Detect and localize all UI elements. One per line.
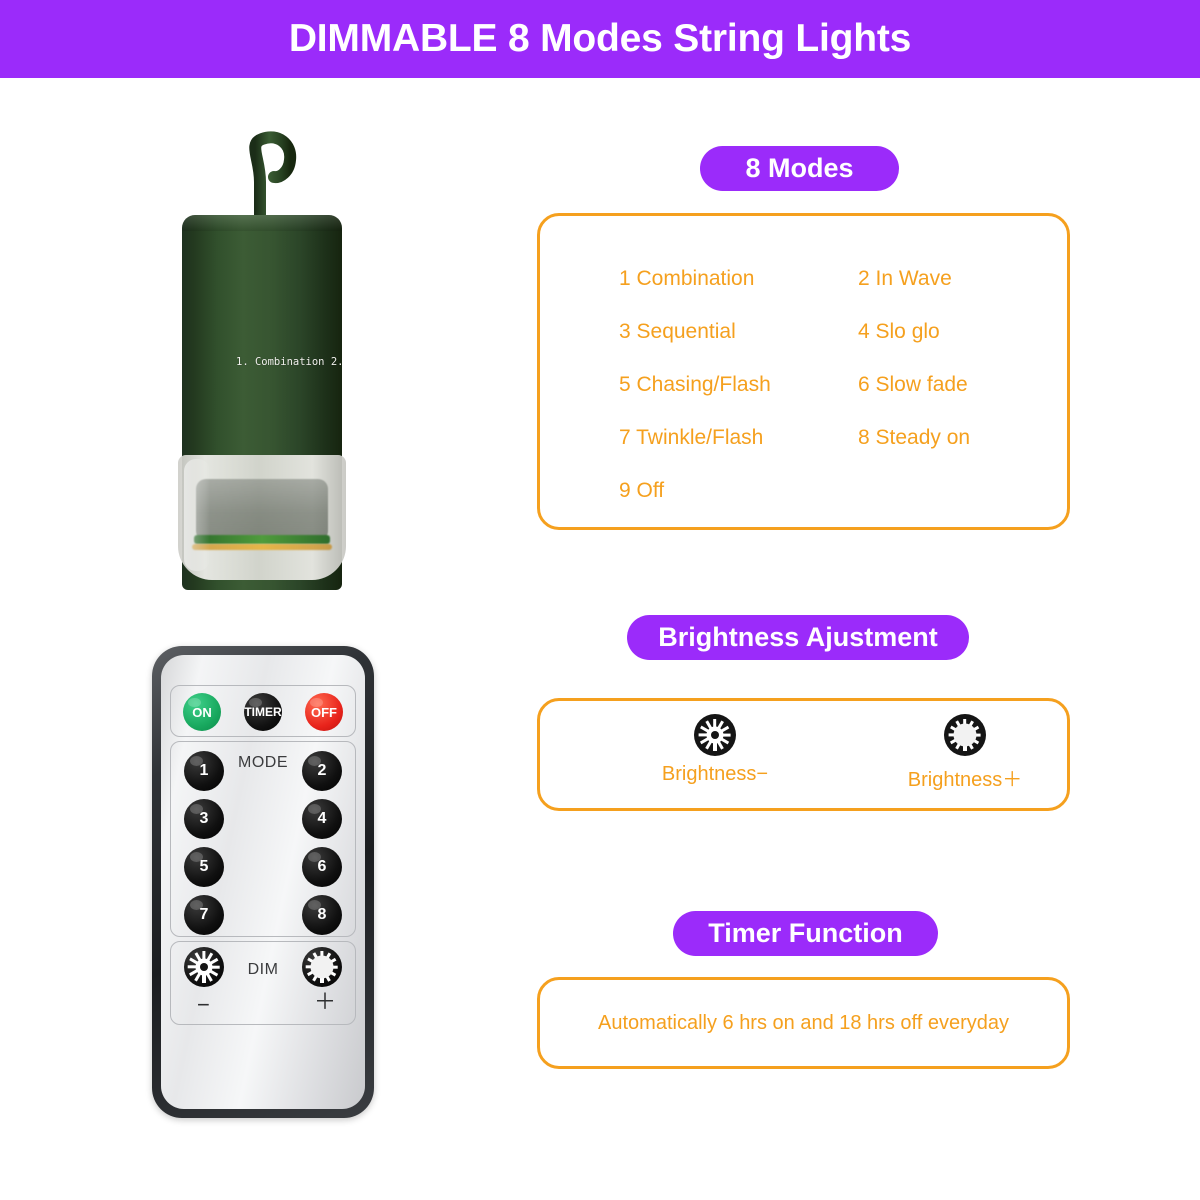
modes-panel: 1 Combination 2 In Wave 3 Sequential 4 S… — [537, 213, 1070, 530]
lamp-base-circuit-board — [194, 535, 330, 544]
timer-description: Automatically 6 hrs on and 18 hrs off ev… — [540, 980, 1067, 1066]
mode-item: 5 Chasing/Flash — [619, 358, 858, 411]
lamp-body-top-edge — [182, 215, 342, 231]
sun-bright-icon — [944, 714, 986, 756]
brightness-down-control: Brightness− — [620, 714, 810, 786]
remote-dim-up-button[interactable] — [302, 947, 342, 987]
remote-dim-plus-sign: ＋ — [314, 991, 336, 1013]
sun-dim-icon — [184, 947, 224, 987]
sun-bright-icon — [302, 947, 342, 987]
remote-mode-key-8[interactable]: 8 — [302, 895, 342, 935]
infographic-page: DIMMABLE 8 Modes String Lights 1. Combin… — [0, 0, 1200, 1200]
brightness-panel: Brightness− Brightness＋ — [537, 698, 1070, 811]
page-title: DIMMABLE 8 Modes String Lights — [289, 17, 911, 61]
remote-mode-key-5[interactable]: 5 — [184, 847, 224, 887]
lamp-product-photo: 1. Combination 2. In wave 3. Sequential … — [160, 130, 385, 580]
mode-item: 3 Sequential — [619, 305, 858, 358]
brightness-down-label: Brightness− — [662, 763, 768, 786]
remote-mode-key-6[interactable]: 6 — [302, 847, 342, 887]
remote-mode-key-1[interactable]: 1 — [184, 751, 224, 791]
timer-panel: Automatically 6 hrs on and 18 hrs off ev… — [537, 977, 1070, 1069]
lamp-base-inner-shadow — [196, 479, 328, 541]
remote-dim-down-button[interactable] — [184, 947, 224, 987]
remote-off-button[interactable]: OFF — [305, 693, 343, 731]
lamp-printed-mode-list: 1. Combination 2. In wave 3. Sequential … — [236, 355, 342, 370]
mode-item: 9 Off — [619, 464, 858, 517]
remote-mode-key-3[interactable]: 3 — [184, 799, 224, 839]
badge-timer-function: Timer Function — [673, 911, 938, 956]
remote-timer-button[interactable]: TIMER — [244, 693, 282, 731]
remote-control-photo: ON TIMER OFF MODE 1 2 3 4 5 6 7 8 DIM — [152, 646, 374, 1118]
lamp-hook-icon — [220, 130, 300, 225]
remote-mode-key-7[interactable]: 7 — [184, 895, 224, 935]
badge-8-modes: 8 Modes — [700, 146, 899, 191]
lamp-translucent-base — [178, 455, 346, 580]
lamp-base-gloss-highlight — [184, 459, 210, 571]
remote-faceplate: ON TIMER OFF MODE 1 2 3 4 5 6 7 8 DIM — [161, 655, 365, 1109]
remote-on-button[interactable]: ON — [183, 693, 221, 731]
sun-dim-icon — [694, 714, 736, 756]
header-banner: DIMMABLE 8 Modes String Lights — [0, 0, 1200, 78]
mode-item: 1 Combination — [619, 252, 858, 305]
badge-brightness-adjustment: Brightness Ajustment — [627, 615, 969, 660]
modes-list: 1 Combination 2 In Wave 3 Sequential 4 S… — [619, 252, 1039, 517]
brightness-up-label: Brightness＋ — [908, 763, 1023, 792]
remote-mode-key-4[interactable]: 4 — [302, 799, 342, 839]
lamp-base-amber-ring — [192, 544, 332, 550]
brightness-up-control: Brightness＋ — [870, 714, 1060, 792]
remote-dim-minus-sign: − — [197, 994, 210, 1016]
remote-mode-key-2[interactable]: 2 — [302, 751, 342, 791]
mode-item: 2 In Wave — [858, 252, 1039, 305]
mode-item: 6 Slow fade — [858, 358, 1039, 411]
mode-item: 8 Steady on — [858, 411, 1039, 464]
mode-item: 4 Slo glo — [858, 305, 1039, 358]
mode-item: 7 Twinkle/Flash — [619, 411, 858, 464]
